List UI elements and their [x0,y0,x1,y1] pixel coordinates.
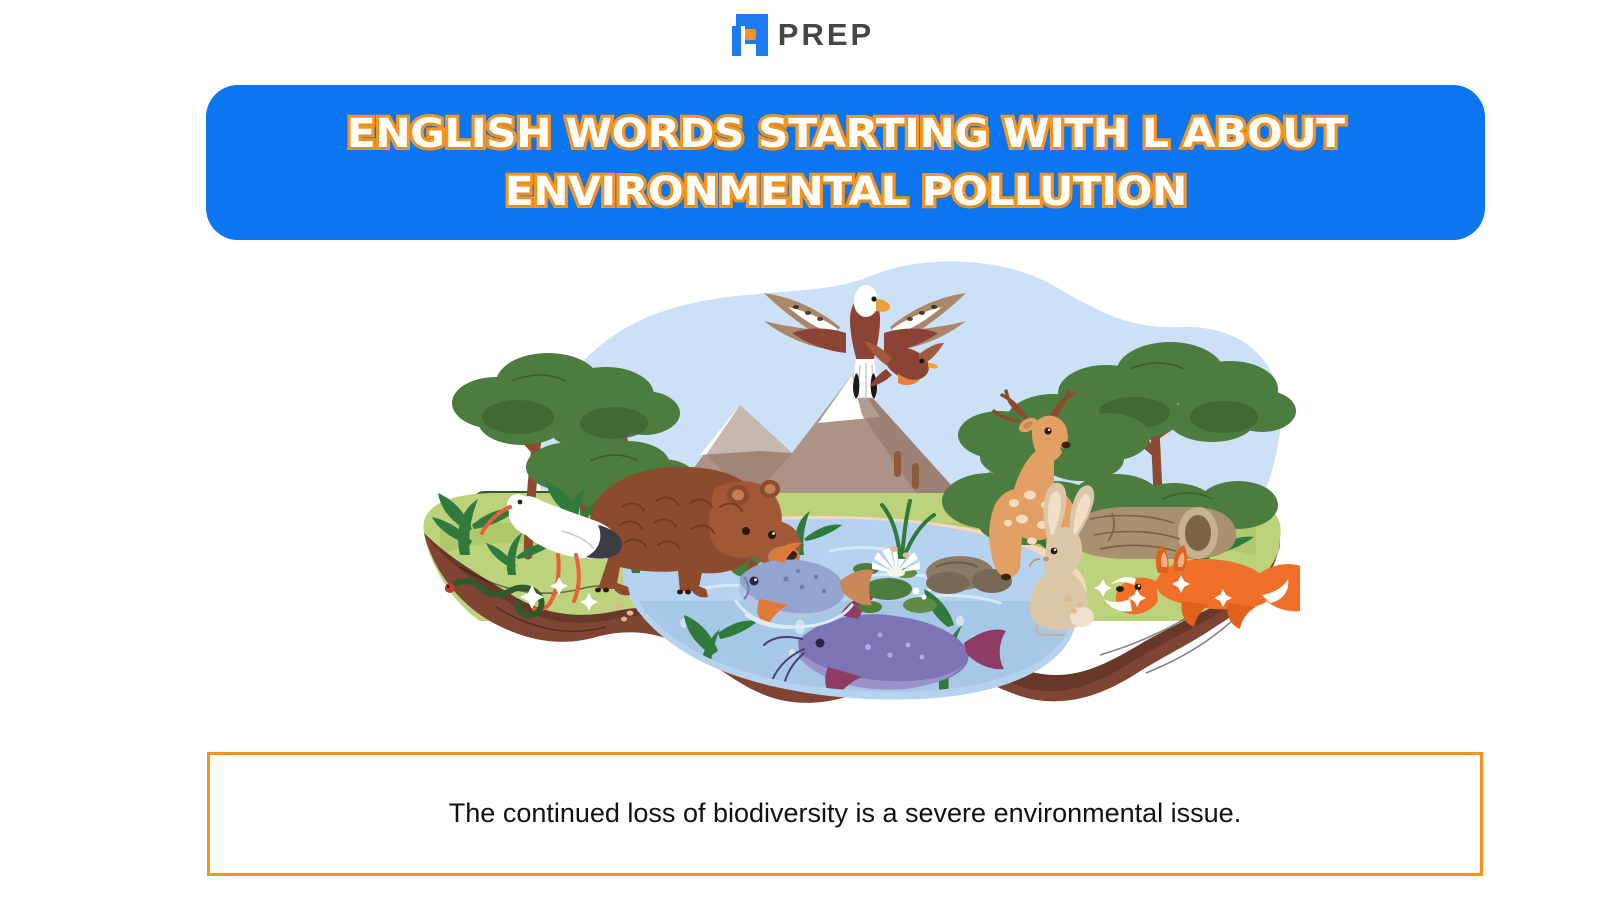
brand-name: PREP [778,19,874,52]
example-sentence-box: The continued loss of biodiversity is a … [207,752,1483,876]
biodiversity-ecosystem-illustration [400,255,1300,705]
example-sentence-text: The continued loss of biodiversity is a … [409,796,1281,831]
title-line-1: ENGLISH WORDS STARTING WITH L ABOUT [347,105,1345,163]
brand-header: PREP [0,14,1600,56]
fallen-log [1071,507,1236,559]
title-line-2: ENVIRONMENTAL POLLUTION [504,163,1186,221]
title-banner: ENGLISH WORDS STARTING WITH L ABOUT ENVI… [206,85,1485,240]
prep-logo-icon [726,14,768,56]
